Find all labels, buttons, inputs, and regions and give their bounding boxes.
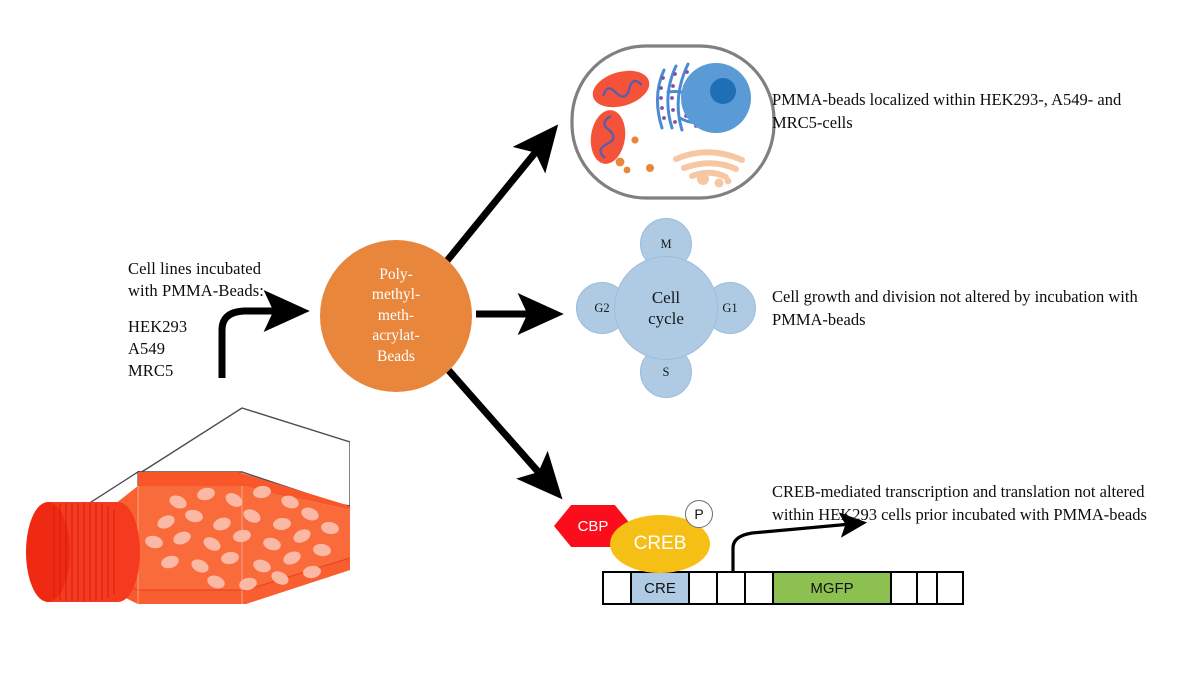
intro-lead: Cell lines incubated with PMMA-Beads: <box>128 258 338 302</box>
cell-cycle-phase-g2-label: G2 <box>594 301 609 316</box>
hub-label: Poly- methyl- meth- acrylat- Beads <box>372 265 420 368</box>
dna-segment-mgfp-label: MGFP <box>810 580 853 597</box>
cell-line-hek293: HEK293 <box>128 316 338 338</box>
dna-segment-spacer-3 <box>746 573 774 603</box>
cell-line-a549: A549 <box>128 338 338 360</box>
cell-illustration <box>568 42 778 202</box>
dna-segment-spacer-1 <box>690 573 718 603</box>
hub-label-line-1: Poly- <box>372 265 420 286</box>
nucleolus <box>710 78 736 104</box>
dna-segment-spacer-5 <box>918 573 938 603</box>
dna-segment-mgfp: MGFP <box>774 573 892 603</box>
cell-line-list: HEK293 A549 MRC5 <box>128 316 338 382</box>
cell-line-mrc5: MRC5 <box>128 360 338 382</box>
hub-to-localization-arrow <box>433 132 552 278</box>
dna-segment-blank-left <box>602 573 632 603</box>
dna-construct: CREMGFP <box>602 571 964 605</box>
phosphorylation-label: P <box>694 506 703 522</box>
phosphorylation-badge: P <box>685 500 713 528</box>
hub-label-line-4: acrylat- <box>372 326 420 347</box>
dna-segment-cre: CRE <box>632 573 690 603</box>
cell-cycle-diagram: M G1 S G2 Cell cycle <box>576 218 756 398</box>
hub-label-line-3: meth- <box>372 306 420 327</box>
caption-localization: PMMA-beads localized within HEK293-, A54… <box>772 88 1172 134</box>
hub-label-line-2: methyl- <box>372 285 420 306</box>
pmma-beads-hub[interactable]: Poly- methyl- meth- acrylat- Beads <box>320 240 472 392</box>
dna-segment-cre-label: CRE <box>644 580 676 597</box>
creb-label: CREB <box>634 533 687 555</box>
flask-cap <box>26 502 140 602</box>
figure-canvas: Cell lines incubated with PMMA-Beads: HE… <box>0 0 1200 675</box>
cell-cycle-phase-g1-label: G1 <box>722 301 737 316</box>
cbp-label: CBP <box>578 518 609 535</box>
intro-lead-line-1: Cell lines incubated <box>128 259 261 278</box>
dna-segment-blank-right <box>938 573 964 603</box>
cell-culture-flask <box>20 380 350 650</box>
cell-cycle-phase-m-label: M <box>660 237 671 252</box>
cell-cycle-phase-s-label: S <box>663 365 670 380</box>
cell-cycle-center-line-1: Cell <box>648 287 684 308</box>
dna-segment-spacer-4 <box>892 573 918 603</box>
dna-segment-spacer-2 <box>718 573 746 603</box>
hub-to-creb-arrow <box>436 356 556 492</box>
caption-creb: CREB-mediated transcription and translat… <box>772 480 1172 526</box>
caption-cell-cycle: Cell growth and division not altered by … <box>772 285 1172 331</box>
cell-cycle-center-line-2: cycle <box>648 308 684 329</box>
intro-lead-line-2: with PMMA-Beads: <box>128 281 264 300</box>
intro-text-block: Cell lines incubated with PMMA-Beads: HE… <box>128 258 338 382</box>
cell-cycle-center[interactable]: Cell cycle <box>614 256 718 360</box>
hub-label-line-5: Beads <box>372 347 420 368</box>
